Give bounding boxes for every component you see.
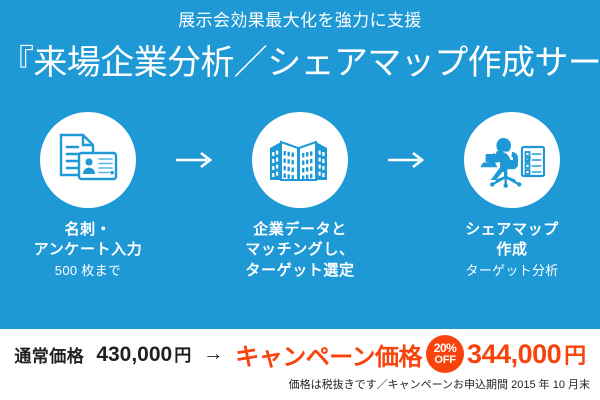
price-strip: 通常価格 430,000円 → キャンペーン価格 20% OFF 344,000… (0, 329, 600, 400)
normal-price-currency: 円 (174, 346, 191, 365)
hero-subtitle: 展示会効果最大化を強力に支援 (0, 12, 600, 29)
step-1-icon-circle (40, 112, 136, 208)
normal-price-amount: 430,000 (96, 343, 172, 366)
step-3: シェアマップ 作成 ターゲット分析 (432, 112, 592, 279)
campaign-price-currency: 円 (564, 343, 586, 368)
hero-title: 『来場企業分析／シェアマップ作成サービス』 (0, 44, 600, 83)
step-2-icon-circle (252, 112, 348, 208)
step-arrow-1 (168, 112, 220, 208)
campaign-price-amount: 344,000 (467, 339, 561, 369)
discount-badge-off: OFF (434, 355, 455, 366)
normal-price-label: 通常価格 (14, 342, 84, 367)
discount-badge-percent: 20% (434, 342, 457, 354)
step-3-note: ターゲット分析 (465, 263, 558, 280)
discount-badge: 20% OFF (426, 335, 464, 373)
step-3-icon-circle (464, 112, 560, 208)
step-1: 名刺・ アンケート入力 500 枚まで (8, 112, 168, 279)
step-1-note: 500 枚まで (55, 263, 121, 280)
person-desk-checklist-icon (479, 132, 545, 188)
promo-banner: 展示会効果最大化を強力に支援 『来場企業分析／シェアマップ作成サービス』 (0, 0, 600, 400)
price-row: 通常価格 430,000円 → キャンペーン価格 20% OFF 344,000… (0, 337, 600, 371)
step-2: 企業データと マッチングし、 ターゲット選定 (220, 112, 380, 283)
step-arrow-2 (380, 112, 432, 208)
price-arrow-icon: → (203, 344, 223, 364)
hero-section: 展示会効果最大化を強力に支援 『来場企業分析／シェアマップ作成サービス』 (0, 0, 600, 329)
document-business-card-icon (57, 131, 119, 189)
step-1-caption: 名刺・ アンケート入力 (34, 220, 143, 261)
fine-print: 価格は税抜きです／キャンペーンお申込期間 2015 年 10 月末 (289, 376, 590, 392)
campaign-price-label: キャンペーン価格 (235, 337, 422, 372)
step-2-caption: 企業データと マッチングし、 ターゲット選定 (245, 220, 354, 281)
office-buildings-icon (268, 136, 332, 184)
campaign-price-value: 344,000円 (467, 338, 586, 370)
step-3-caption: シェアマップ 作成 (465, 220, 559, 261)
steps-row: 名刺・ アンケート入力 500 枚まで (0, 112, 600, 312)
normal-price-value: 430,000円 (96, 341, 191, 367)
